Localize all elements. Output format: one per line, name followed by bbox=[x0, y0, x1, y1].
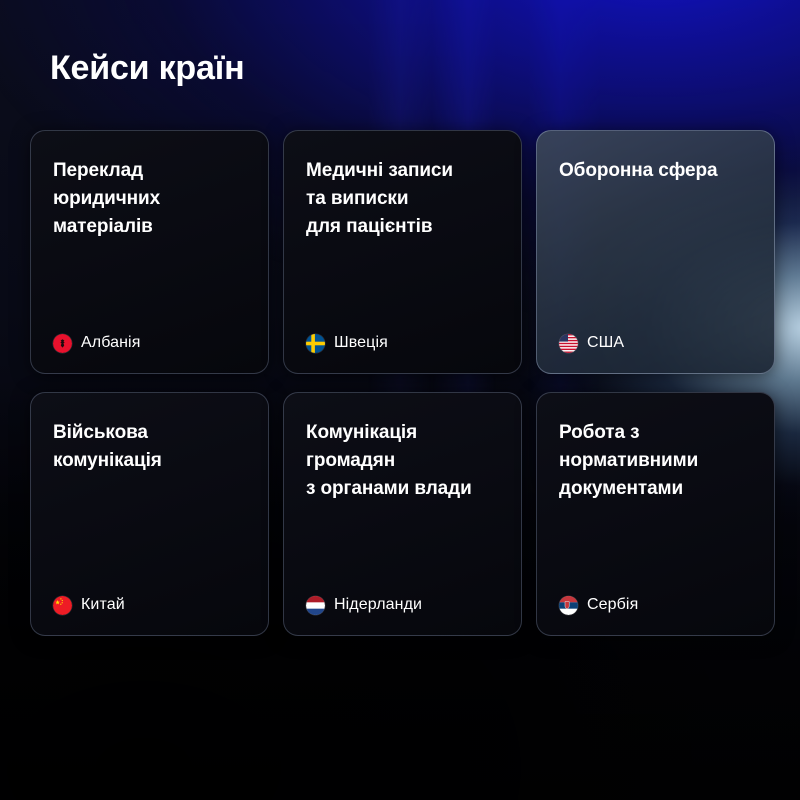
flag-usa-icon bbox=[559, 334, 578, 353]
country-label: Албанія bbox=[81, 333, 140, 353]
case-card-serbia[interactable]: Робота з нормативними документами Сербія bbox=[536, 392, 775, 636]
flag-serbia-icon bbox=[559, 596, 578, 615]
flag-albania-icon bbox=[53, 334, 72, 353]
case-card-usa[interactable]: Оборонна сфера bbox=[536, 130, 775, 374]
case-card-title: Військова комунікація bbox=[53, 419, 246, 475]
case-card-sweden[interactable]: Медичні записи та виписки для пацієнтів … bbox=[283, 130, 522, 374]
case-card-footer: Нідерланди bbox=[306, 595, 499, 615]
country-label: США bbox=[587, 333, 624, 353]
case-card-title: Переклад юридичних матеріалів bbox=[53, 157, 246, 241]
flag-netherlands-icon bbox=[306, 596, 325, 615]
case-card-albania[interactable]: Переклад юридичних матеріалів Албанія bbox=[30, 130, 269, 374]
slide-content: Кейси країн Переклад юридичних матеріалі… bbox=[0, 0, 800, 800]
country-label: Китай bbox=[81, 595, 125, 615]
case-card-footer: Сербія bbox=[559, 595, 752, 615]
case-card-title: Оборонна сфера bbox=[559, 157, 752, 185]
country-label: Швеція bbox=[334, 333, 388, 353]
country-case-grid: Переклад юридичних матеріалів Албанія Ме… bbox=[30, 130, 770, 636]
case-card-china[interactable]: Військова комунікація Китай bbox=[30, 392, 269, 636]
country-label: Нідерланди bbox=[334, 595, 422, 615]
page-title: Кейси країн bbox=[50, 48, 770, 88]
case-card-title: Комунікація громадян з органами влади bbox=[306, 419, 499, 503]
case-card-title: Медичні записи та виписки для пацієнтів bbox=[306, 157, 499, 241]
case-card-netherlands[interactable]: Комунікація громадян з органами влади Ні… bbox=[283, 392, 522, 636]
case-card-footer: Китай bbox=[53, 595, 246, 615]
case-card-footer: США bbox=[559, 333, 752, 353]
flag-china-icon bbox=[53, 596, 72, 615]
case-card-footer: Швеція bbox=[306, 333, 499, 353]
country-label: Сербія bbox=[587, 595, 638, 615]
slide-canvas: Кейси країн Переклад юридичних матеріалі… bbox=[0, 0, 800, 800]
flag-sweden-icon bbox=[306, 334, 325, 353]
case-card-footer: Албанія bbox=[53, 333, 246, 353]
case-card-title: Робота з нормативними документами bbox=[559, 419, 752, 503]
